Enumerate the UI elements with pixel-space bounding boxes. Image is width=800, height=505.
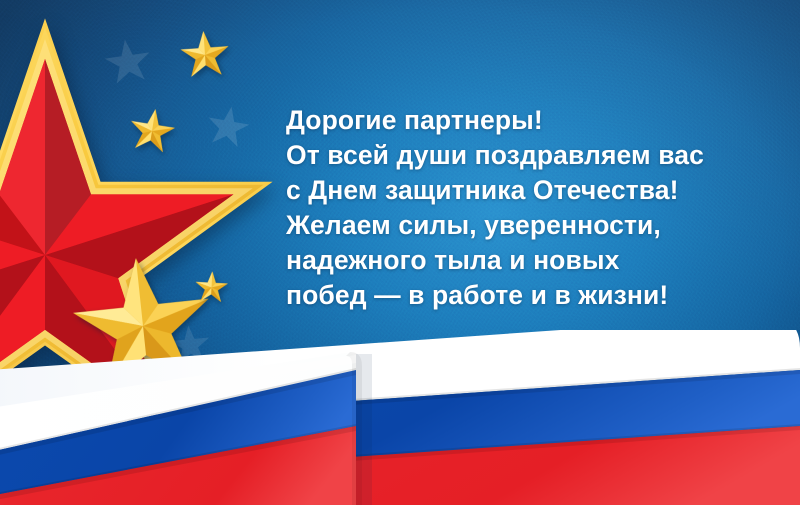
greeting-message: Дорогие партнеры! От всей души поздравля… — [286, 103, 756, 313]
gold-star-upper-left-icon — [125, 104, 180, 159]
gold-star-top-icon — [177, 27, 233, 83]
russian-flag-ribbon — [0, 330, 800, 505]
message-line-4: Желаем силы, уверенности, — [286, 208, 756, 243]
message-line-5: надежного тыла и новых — [286, 243, 756, 278]
message-line-3: с Днем защитника Отечества! — [286, 173, 756, 208]
greeting-card: Дорогие партнеры! От всей души поздравля… — [0, 0, 800, 505]
message-line-2: От всей души поздравляем вас — [286, 138, 756, 173]
gold-star-small-icon — [193, 269, 230, 306]
message-line-1: Дорогие партнеры! — [286, 103, 756, 138]
message-line-6: побед — в работе и в жизни! — [286, 278, 756, 313]
